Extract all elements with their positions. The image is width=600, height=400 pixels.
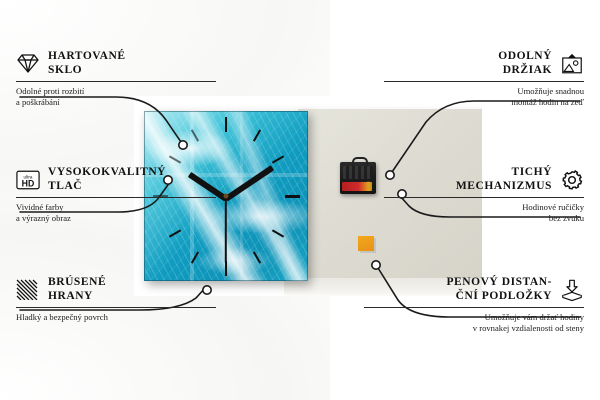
feature-description: Vividné farbya výrazný obraz [16,202,216,224]
feature-title: HARTOVANÉSKLO [48,50,126,77]
gear-icon [560,169,584,191]
feature-title: TICHÝMECHANIZMUS [456,166,552,193]
ultra-hd-icon: ultra HD [16,169,40,191]
movement-battery [342,182,372,191]
feature-tichy-mechanizmus: TICHÝMECHANIZMUS Hodinové ručičkybez zvu… [384,166,584,224]
foam-distance-pad [358,236,374,251]
diamond-icon [16,53,40,75]
infographic-canvas: HARTOVANÉSKLO Odolné proti rozbitía pošk… [0,0,600,400]
feature-description: Odolné proti rozbitía poškrábání [16,86,216,108]
hd-label: HD [22,178,35,188]
feature-description: Hladký a bezpečný povrch [16,312,216,323]
feature-divider [384,197,584,198]
movement-hanging-tab [352,157,368,166]
feature-description: Umožňuje snadnoumontáž hodin na zeď [384,86,584,108]
feature-divider [384,81,584,82]
feature-description: Hodinové ručičkybez zvuku [384,202,584,224]
hatch-lines-icon [16,279,40,301]
feature-odolny-drziak: ODOLNÝDRŽIAK Umožňuje snadnoumontáž hodi… [384,50,584,108]
feature-divider [16,307,216,308]
feature-divider [16,81,216,82]
feature-title: ODOLNÝDRŽIAK [498,50,552,77]
movement-vent-grid [343,166,373,179]
feature-brusene-hrany: BRÚSENÉHRANY Hladký a bezpečný povrch [16,276,216,323]
foam-pad-press-icon [560,279,584,301]
feature-divider [16,197,216,198]
hands-hub [224,194,229,199]
feature-vysokokvalitny-tlac: ultra HD VYSOKOKVALITNÝTLAČ Vividné farb… [16,166,216,224]
feature-hartovane-sklo: HARTOVANÉSKLO Odolné proti rozbitía pošk… [16,50,216,108]
feature-penove-podlozky: PENOVÝ DISTAN-ČNÍ PODLOŽKY Umožňuje vám … [364,276,584,334]
feature-title: BRÚSENÉHRANY [48,276,106,303]
clock-movement [340,162,376,194]
feature-title: PENOVÝ DISTAN-ČNÍ PODLOŽKY [446,276,552,303]
feature-description: Umožňuje vám držať hodinyv rovnakej vzdi… [364,312,584,334]
feature-title: VYSOKOKVALITNÝTLAČ [48,166,166,193]
picture-hanger-icon [560,53,584,75]
feature-divider [364,307,584,308]
